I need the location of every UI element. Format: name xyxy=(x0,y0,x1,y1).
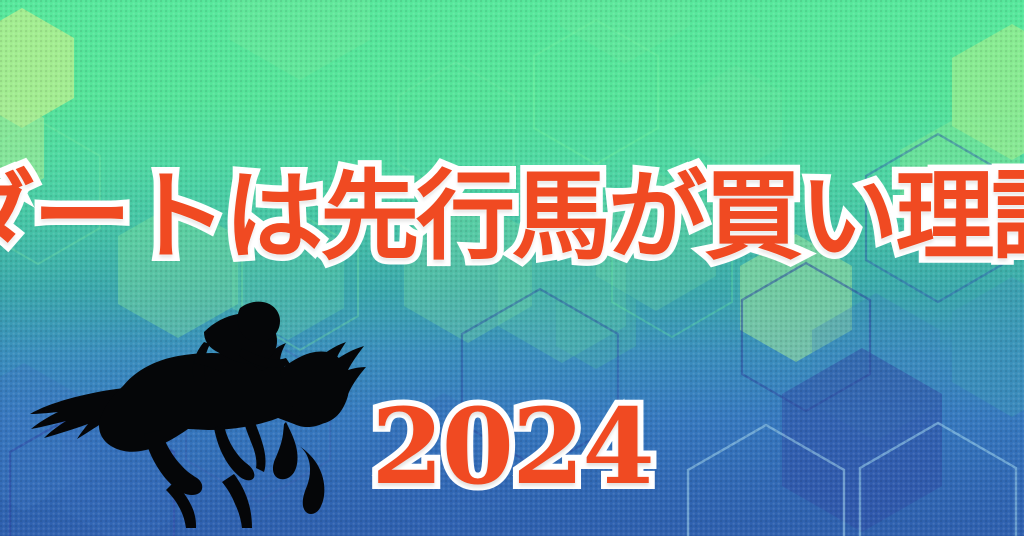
racehorse-jockey-silhouette-icon xyxy=(28,296,378,528)
banner-root: ダートは先行馬が買い理論 2024 xyxy=(0,0,1024,536)
